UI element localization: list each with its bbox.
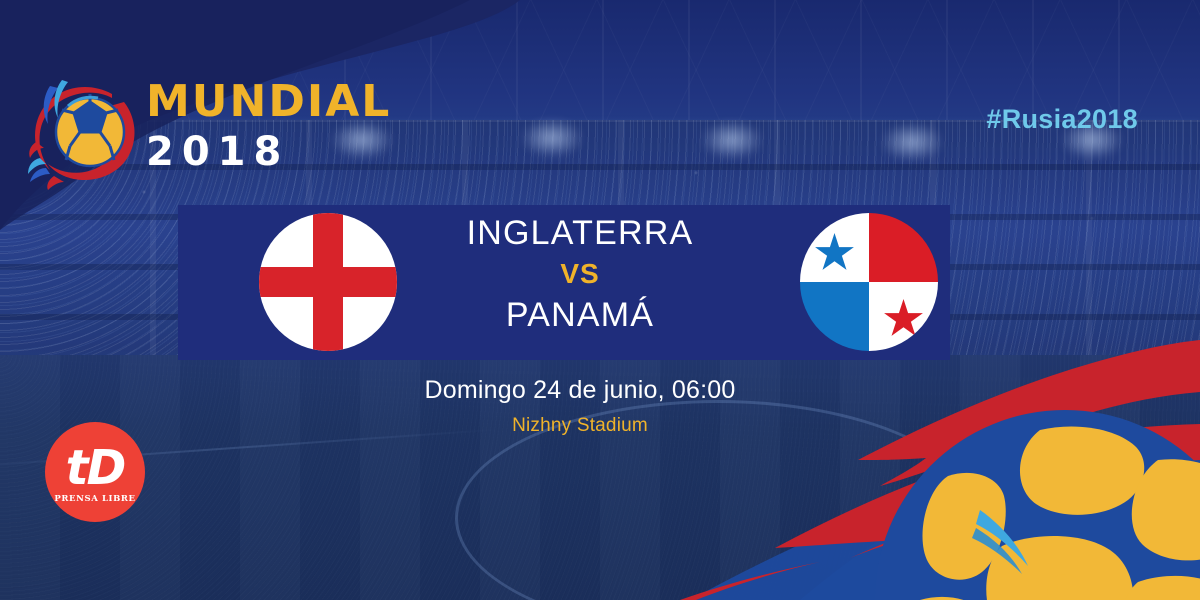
flaming-soccer-ball-icon <box>28 72 148 190</box>
td-tagline: PRENSA LIBRE <box>54 494 135 504</box>
bottom-right-ball-artwork <box>680 300 1200 600</box>
prensa-libre-logo: tD PRENSA LIBRE <box>45 422 145 522</box>
hashtag-rusia2018: #Rusia2018 <box>986 104 1138 135</box>
versus-label: VS <box>420 258 740 290</box>
mundial-wordmark: MUNDIAL 2018 <box>146 80 391 172</box>
mundial-year-text: 2018 <box>146 132 391 172</box>
mundial-text: MUNDIAL <box>146 80 391 124</box>
england-flag <box>259 213 397 351</box>
match-promo-graphic: MUNDIAL 2018 #Rusia2018 INGLATERRA VS PA… <box>0 0 1200 600</box>
home-team-name: INGLATERRA <box>420 216 740 250</box>
floodlight-glow <box>700 120 764 160</box>
mundial-logo: MUNDIAL 2018 <box>28 72 318 190</box>
floodlight-glow <box>880 122 944 162</box>
td-mark: tD <box>66 444 125 492</box>
